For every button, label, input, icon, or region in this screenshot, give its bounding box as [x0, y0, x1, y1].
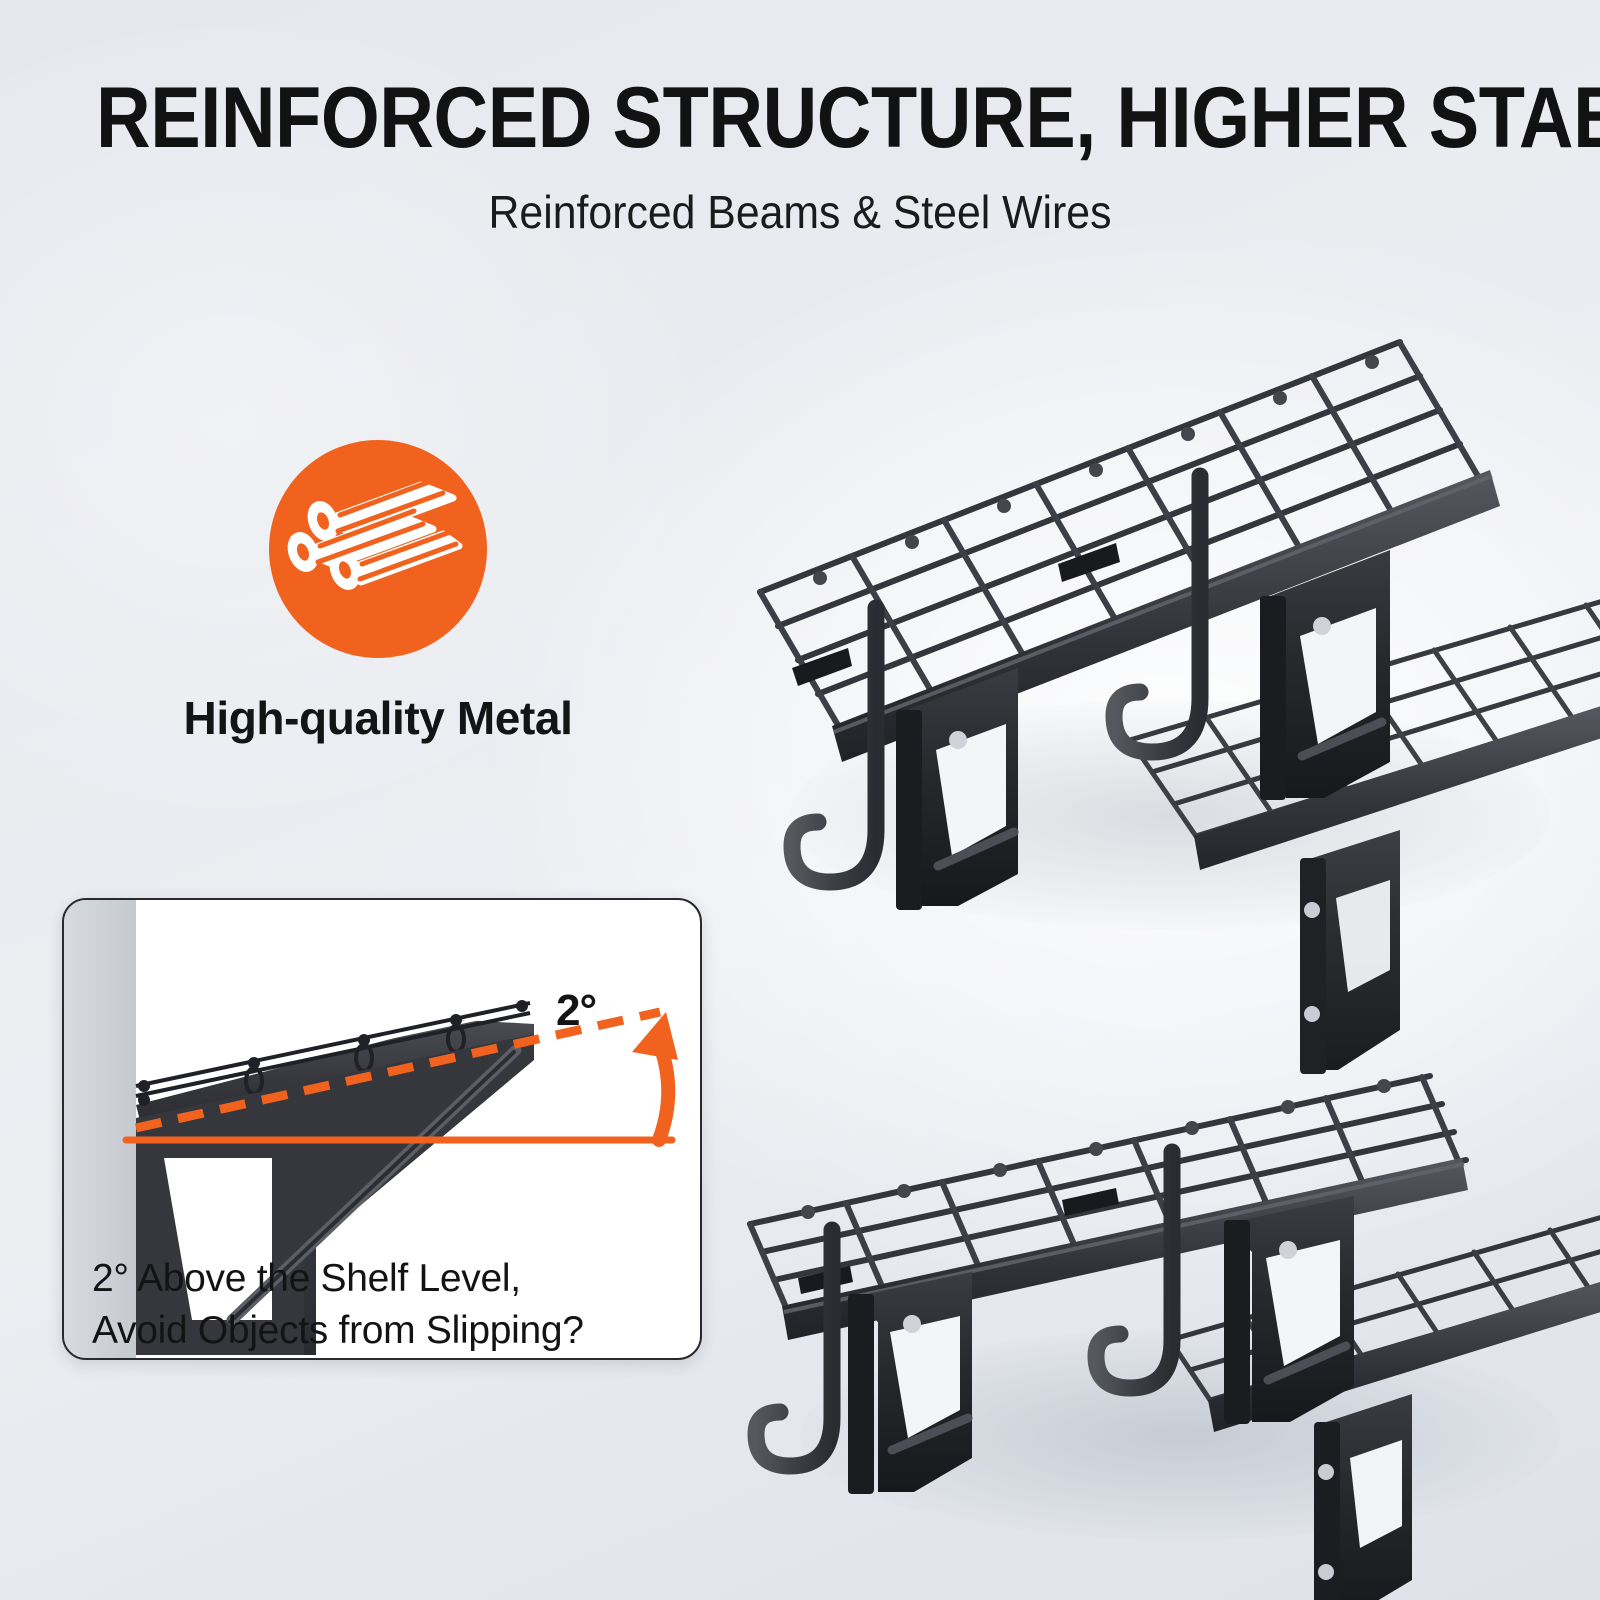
- feature-badge: High-quality Metal: [128, 440, 628, 744]
- wall-shelf-lower: [700, 1040, 1600, 1570]
- metal-tubes-icon: [293, 474, 463, 624]
- angle-value-label: 2°: [556, 986, 596, 1036]
- j-hook-right-lower-icon: [1096, 1152, 1172, 1388]
- angle-inset-caption: 2° Above the Shelf Level, Avoid Objects …: [92, 1253, 692, 1357]
- shelf-deck-front: [760, 342, 1500, 910]
- shelf-bracket-left-lower: [848, 1272, 972, 1494]
- curved-up-arrow-icon: [632, 1012, 678, 1140]
- angle-caption-line-2: Avoid Objects from Slipping?: [92, 1305, 692, 1357]
- shelf-bracket-right-lower: [1224, 1196, 1354, 1424]
- wall-shelf-upper: [700, 270, 1600, 950]
- page-title: REINFORCED STRUCTURE, HIGHER STABILITY: [96, 72, 1504, 164]
- product-feature-banner: REINFORCED STRUCTURE, HIGHER STABILITY R…: [0, 0, 1600, 1600]
- page-subtitle: Reinforced Beams & Steel Wires: [56, 184, 1544, 240]
- angle-caption-line-1: 2° Above the Shelf Level,: [92, 1253, 692, 1305]
- feature-badge-label: High-quality Metal: [128, 692, 628, 744]
- badge-circle: [269, 440, 487, 658]
